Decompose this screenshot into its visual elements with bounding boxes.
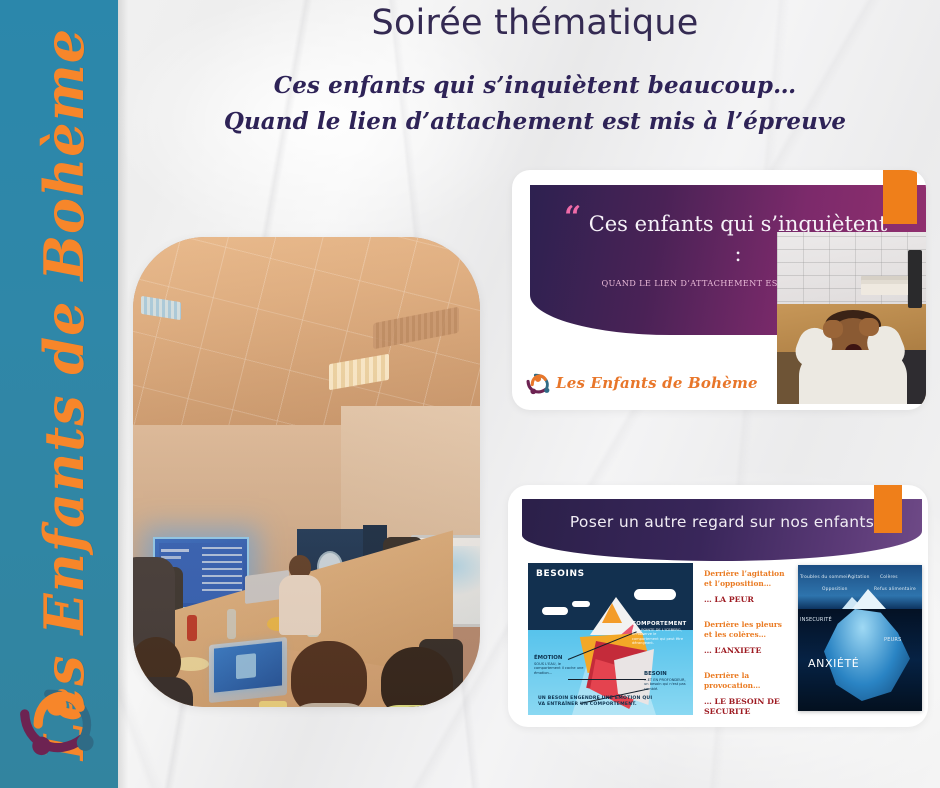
iceberg2-label-insecurite: INSECURITÉ — [800, 617, 832, 623]
slide2-orange-tab — [874, 485, 902, 533]
slide1-orange-tab — [883, 170, 917, 224]
slide-card-iceberg[interactable]: Poser un autre regard sur nos enfants BE… — [508, 485, 928, 727]
iceberg2-label-coleres: Colères — [880, 575, 898, 580]
iceberg1-desc-emotion: SOUS L'EAU, le comportement il cache une… — [534, 662, 584, 675]
brick-wall — [777, 232, 926, 315]
iceberg1-arrow-2 — [568, 679, 646, 680]
slide1-logo: Les Enfants de Bohème — [526, 368, 726, 398]
iceberg1-label-emotion: ÉMOTION — [534, 655, 562, 661]
list-item-answer: … LA PEUR — [704, 595, 792, 605]
list-item: Derrière l’agitation et l’opposition… … … — [704, 569, 792, 605]
poster-canvas: Les Enfants de Bohème Soirée thématique … — [0, 0, 940, 788]
iceberg1-desc-besoin: …ET EN PROFONDEUR, un besoin qui n'est p… — [644, 678, 690, 691]
three-figures-logo-icon — [526, 370, 552, 396]
cloud-1-icon — [542, 607, 568, 615]
iceberg2-label-opposition: Opposition — [822, 587, 848, 592]
iceberg2-peak — [852, 589, 886, 609]
cloud-2-icon — [572, 601, 590, 607]
three-figures-logo-icon — [18, 676, 102, 762]
iceberg1-title: BESOINS — [536, 569, 585, 579]
slide1-logo-text: Les Enfants de Bohème — [556, 374, 758, 392]
list-item: Derrière les pleurs et les colères… … L’… — [704, 620, 792, 656]
list-item-question: Derrière les pleurs et les colères… — [704, 620, 792, 640]
slide-card-title[interactable]: “ Ces enfants qui s’inquiètent : Quand l… — [512, 170, 926, 410]
subtitle-line-2: Quand le lien d’attachement est mis à l’… — [130, 104, 940, 140]
behaviour-meaning-list: Derrière l’agitation et l’opposition… … … — [704, 569, 792, 727]
conference-room-photo — [133, 237, 480, 707]
list-item: Derrière la provocation… … LE BESOIN DE … — [704, 671, 792, 717]
child-left-hand — [823, 320, 843, 338]
iceberg2-label-agitation: Agitation — [848, 575, 870, 580]
child-right-hand — [859, 318, 879, 336]
iceberg2-label-sommeil: Troubles du sommeil — [800, 575, 849, 580]
sidebar-brand-text: Les Enfants de Bohème — [22, 14, 106, 774]
books-stack — [861, 284, 915, 295]
slide2-title: Poser un autre regard sur nos enfants — [522, 513, 922, 531]
iceberg2-label-refus: Refus alimentaire — [874, 587, 916, 592]
besoins-iceberg-infographic: BESOINS COMPORTEMENT À LA POINTE DE L'IC… — [528, 563, 693, 715]
iceberg2-label-anxiete: ANXIÉTÉ — [808, 657, 859, 670]
iceberg2-submerged-mass — [824, 609, 910, 701]
poster-header: Soirée thématique Ces enfants qui s’inqu… — [130, 0, 940, 139]
photo-warm-tint — [133, 237, 480, 707]
iceberg1-label-besoin: BESOIN — [644, 671, 667, 677]
room-scene — [133, 237, 480, 707]
iceberg1-footer-text: UN BESOIN ENGENDRE UNE ÉMOTION QUI VA EN… — [538, 696, 656, 708]
iceberg1-label-comportement: COMPORTEMENT — [632, 621, 687, 627]
crying-child-photo — [777, 232, 926, 404]
brand-sidebar: Les Enfants de Bohème — [0, 0, 118, 788]
list-item-question: Derrière la provocation… — [704, 671, 792, 691]
slide2-purple-band: Poser un autre regard sur nos enfants — [522, 499, 922, 561]
iceberg1-peak-orange — [602, 603, 622, 623]
iceberg2-label-peurs: PEURS — [884, 637, 901, 643]
iceberg1-desc-comportement: À LA POINTE DE L'ICEBERG, on observe le … — [632, 628, 684, 646]
list-item-answer: … L’ANXIETE — [704, 646, 792, 656]
list-item-question: Derrière l’agitation et l’opposition… — [704, 569, 792, 589]
monitor-edge — [908, 250, 922, 308]
page-title: Soirée thématique — [130, 2, 940, 44]
quote-mark-icon: “ — [564, 209, 581, 227]
subtitle-line-1: Ces enfants qui s’inquiètent beaucoup… — [130, 68, 940, 104]
list-item-answer: … LE BESOIN DE SECURITE — [704, 697, 792, 717]
anxiety-iceberg-photo: Troubles du sommeil Agitation Colères Op… — [798, 565, 922, 711]
subtitle-block: Ces enfants qui s’inquiètent beaucoup… Q… — [130, 68, 940, 139]
